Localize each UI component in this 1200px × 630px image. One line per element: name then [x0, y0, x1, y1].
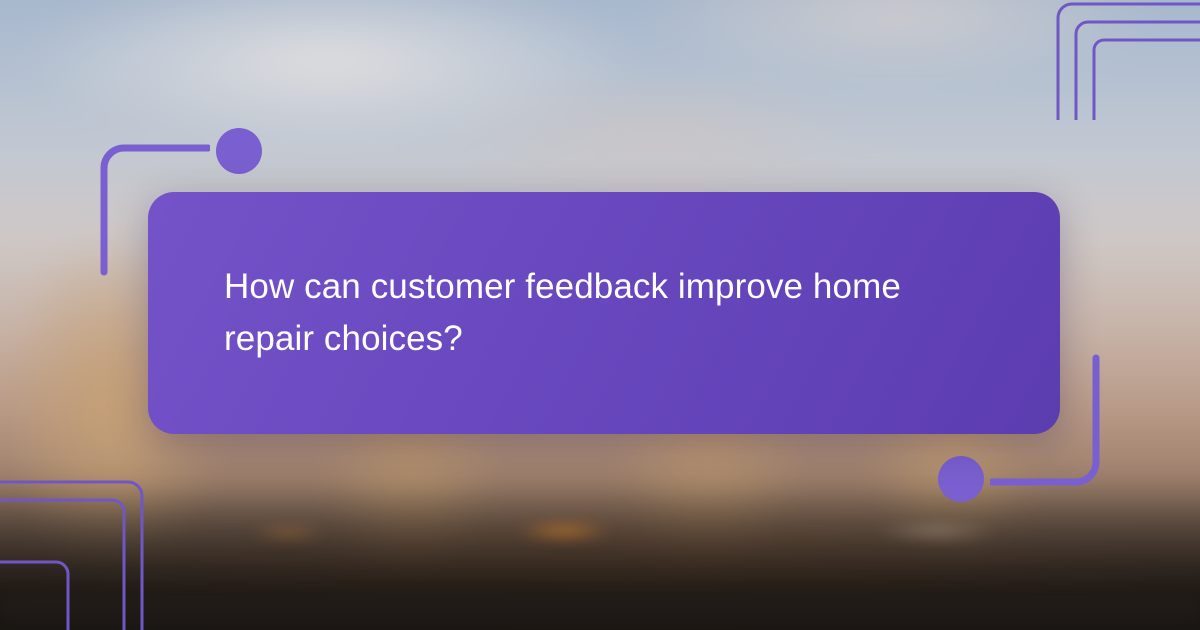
background-lights — [0, 518, 1200, 544]
question-text: How can customer feedback improve home r… — [224, 261, 984, 365]
background-bottom-strip — [0, 596, 1200, 630]
social-card-canvas: How can customer feedback improve home r… — [0, 0, 1200, 630]
accent-dot-top-left-icon — [216, 128, 262, 174]
accent-dot-bottom-right-icon — [938, 456, 984, 502]
question-card: How can customer feedback improve home r… — [148, 192, 1060, 434]
